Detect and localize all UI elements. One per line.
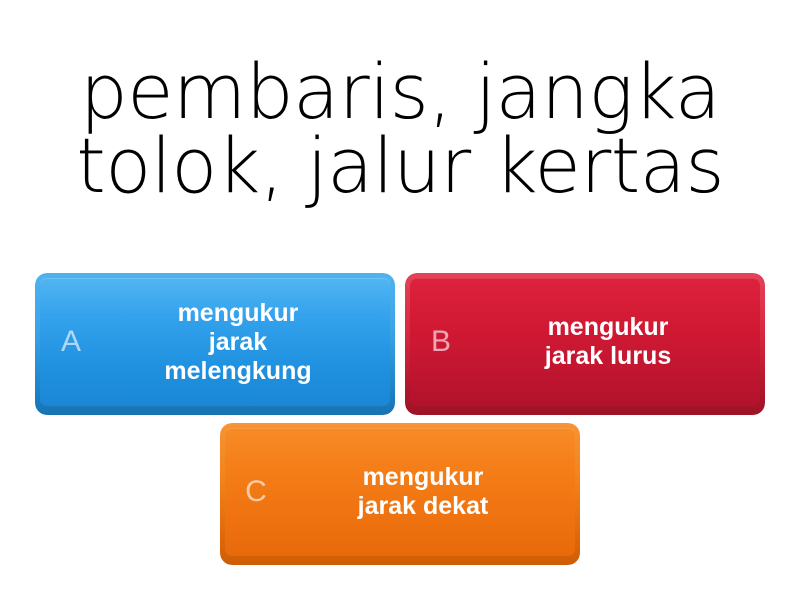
question-area: pembaris, jangka tolok, jalur kertas [0, 0, 800, 258]
answer-option-c-content: C mengukur jarak dekat [220, 423, 580, 565]
answer-option-c[interactable]: C mengukur jarak dekat [220, 423, 580, 565]
answer-option-b-label: mengukur jarak lurus [467, 313, 755, 371]
answer-option-b-content: B mengukur jarak lurus [405, 273, 765, 415]
answer-option-a-content: A mengukur jarak melengkung [35, 273, 395, 415]
answer-options-area: A mengukur jarak melengkung B mengukur j… [0, 258, 800, 600]
answer-option-a-label: mengukur jarak melengkung [97, 299, 385, 386]
answer-option-c-letter: C [230, 477, 282, 507]
answer-option-a-letter: A [45, 327, 97, 357]
answer-option-b-letter: B [415, 327, 467, 357]
question-text: pembaris, jangka tolok, jalur kertas [76, 55, 724, 204]
answer-option-a[interactable]: A mengukur jarak melengkung [35, 273, 395, 415]
answer-option-c-label: mengukur jarak dekat [282, 463, 570, 521]
quiz-card: pembaris, jangka tolok, jalur kertas A m… [0, 0, 800, 600]
answer-option-b[interactable]: B mengukur jarak lurus [405, 273, 765, 415]
